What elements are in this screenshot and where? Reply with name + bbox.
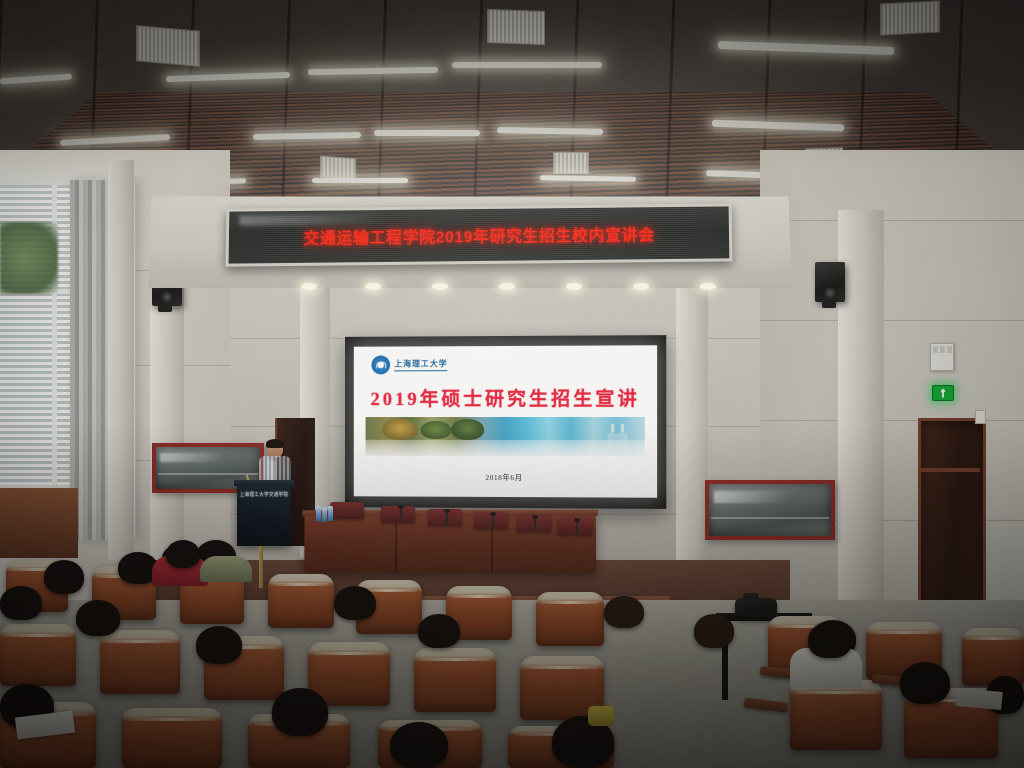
recessed-downlight	[566, 283, 582, 290]
auditorium-seat	[790, 680, 882, 750]
podium-support-post	[259, 546, 263, 588]
speaker-cone-icon	[824, 287, 836, 299]
wall-pilaster	[676, 276, 708, 606]
wall-outlet	[975, 410, 986, 424]
audience-head	[604, 596, 644, 628]
speaker-cone-icon	[161, 291, 173, 303]
wall-speaker-right	[815, 262, 845, 302]
auditorium-seat	[0, 624, 76, 686]
door-transom	[918, 468, 980, 472]
water-bottle	[328, 506, 333, 521]
university-logo: 上海理工大学	[372, 355, 448, 374]
water-bottle	[316, 506, 321, 521]
recessed-downlight	[499, 283, 515, 290]
campus-tree	[451, 419, 484, 440]
led-scrolling-banner: 交通运输工程学院2019年研究生招生校内宣讲会	[226, 203, 733, 266]
running-man-icon	[941, 389, 946, 398]
speaker-mount-bracket	[158, 304, 172, 312]
audience-head	[900, 662, 950, 704]
display-case-right	[705, 480, 835, 540]
recessed-downlight	[301, 283, 317, 290]
campus-tree	[382, 419, 418, 439]
water-bottle	[322, 507, 327, 522]
speaker-podium: 上海理工大学交通学院	[237, 484, 291, 546]
recessed-downlight	[432, 283, 448, 290]
head-table-chair	[381, 506, 415, 523]
glass-reflection	[714, 491, 787, 502]
glass-reflection	[160, 453, 222, 462]
audience-person-green-top	[200, 556, 252, 582]
recessed-downlight	[700, 283, 716, 290]
audience-head	[44, 560, 84, 594]
audience-head	[166, 540, 200, 568]
table-microphone	[446, 512, 448, 526]
table-microphone	[534, 518, 536, 532]
slide-title: 2019年硕士研究生招生宣讲	[354, 383, 657, 410]
water-bottles	[316, 506, 336, 522]
window-pier	[108, 160, 134, 560]
audience-head	[694, 614, 734, 648]
auditorium-seat	[536, 592, 604, 646]
audience-head	[272, 688, 328, 736]
audience-head	[0, 586, 42, 620]
case-shelf	[711, 517, 828, 519]
emergency-exit-sign	[932, 385, 954, 401]
presenter-hair	[266, 439, 284, 448]
auditorium-seat	[962, 628, 1024, 686]
case-shelf	[158, 473, 258, 475]
campus-tree	[421, 421, 451, 439]
table-microphone	[400, 508, 402, 522]
wall-switch-panel[interactable]	[930, 343, 954, 371]
table-microphone	[492, 515, 494, 529]
audience-head	[390, 722, 448, 768]
campus-photo-band	[366, 417, 645, 457]
recessed-downlight	[633, 283, 649, 290]
audience-head	[808, 622, 852, 658]
speaker-mount-bracket	[822, 300, 836, 308]
audience-head	[418, 614, 460, 648]
led-banner-text: 交通运输工程学院2019年研究生招生校内宣讲会	[303, 221, 654, 249]
podium-label: 上海理工大学交通学院	[239, 491, 289, 498]
auditorium-seat	[100, 630, 180, 694]
audience-head	[334, 586, 376, 620]
recessed-downlight	[365, 283, 381, 290]
audience-head	[196, 626, 242, 664]
podium-top-edge	[234, 480, 294, 486]
water-reflection	[366, 440, 645, 457]
audience-head	[76, 600, 120, 636]
university-emblem-icon	[372, 356, 391, 375]
university-logo-text: 上海理工大学	[394, 358, 447, 371]
projection-screen: 上海理工大学 2019年硕士研究生招生宣讲 2018年6月	[345, 335, 666, 509]
slide-date: 2018年6月	[354, 472, 657, 484]
window-foliage	[0, 222, 58, 294]
lecture-hall-photo: 交通运输工程学院2019年研究生招生校内宣讲会 上海理工大学 2019年硕士研究…	[0, 0, 1024, 768]
presentation-slide: 上海理工大学 2019年硕士研究生招生宣讲 2018年6月	[354, 345, 657, 497]
wainscot-left	[0, 488, 78, 558]
table-microphone	[576, 521, 578, 535]
yellow-item	[588, 706, 614, 726]
auditorium-seat	[122, 708, 222, 768]
auditorium-seat	[414, 648, 496, 712]
auditorium-seat	[268, 574, 334, 628]
